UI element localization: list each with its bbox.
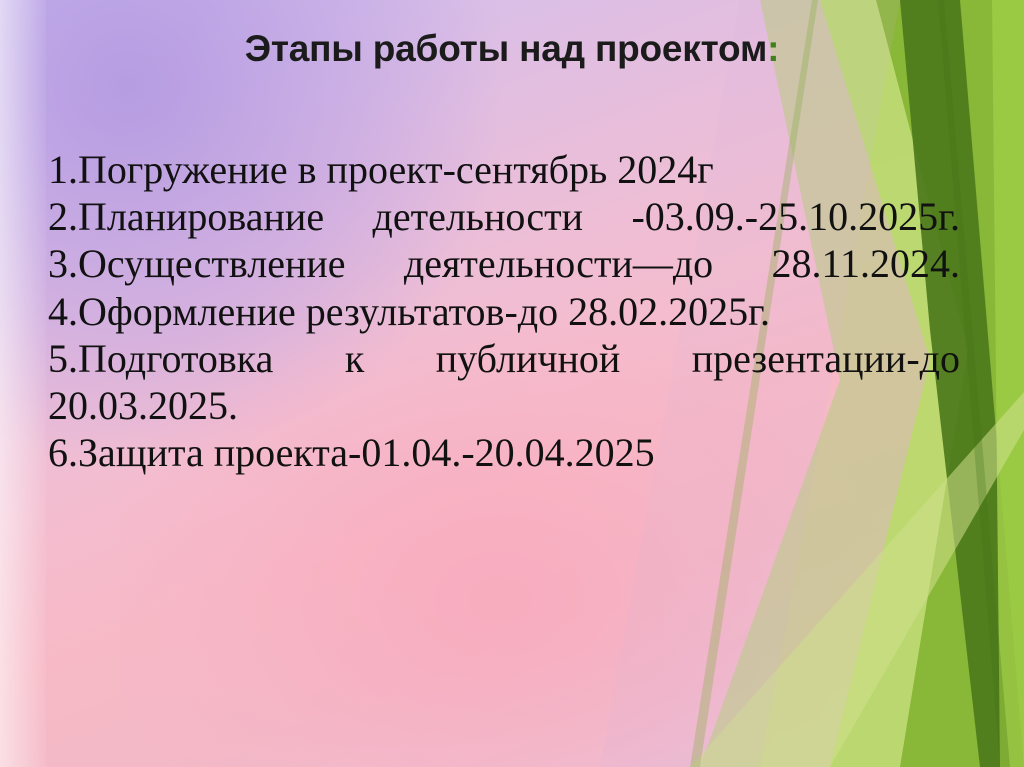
list-item: 2.Планирование детельности -03.09.-25.10… — [48, 193, 960, 240]
slide-canvas: Этапы работы над проектом: 1.Погружение … — [0, 0, 1024, 767]
stages-list: 1.Погружение в проект-сентябрь 2024г 2.П… — [48, 146, 960, 476]
list-item: 3.Осуществление деятельности—до 28.11.20… — [48, 240, 960, 287]
list-item: 5.Подготовка к публичной презентации-до … — [48, 335, 960, 429]
page-title: Этапы работы над проектом: — [0, 28, 1024, 69]
list-item: 6.Защита проекта-01.04.-20.04.2025 — [48, 429, 960, 476]
list-item: 1.Погружение в проект-сентябрь 2024г — [48, 146, 960, 193]
page-title-text: Этапы работы над проектом — [245, 28, 767, 69]
page-title-colon: : — [767, 28, 779, 69]
list-item: 4.Оформление результатов-до 28.02.2025г. — [48, 288, 960, 335]
